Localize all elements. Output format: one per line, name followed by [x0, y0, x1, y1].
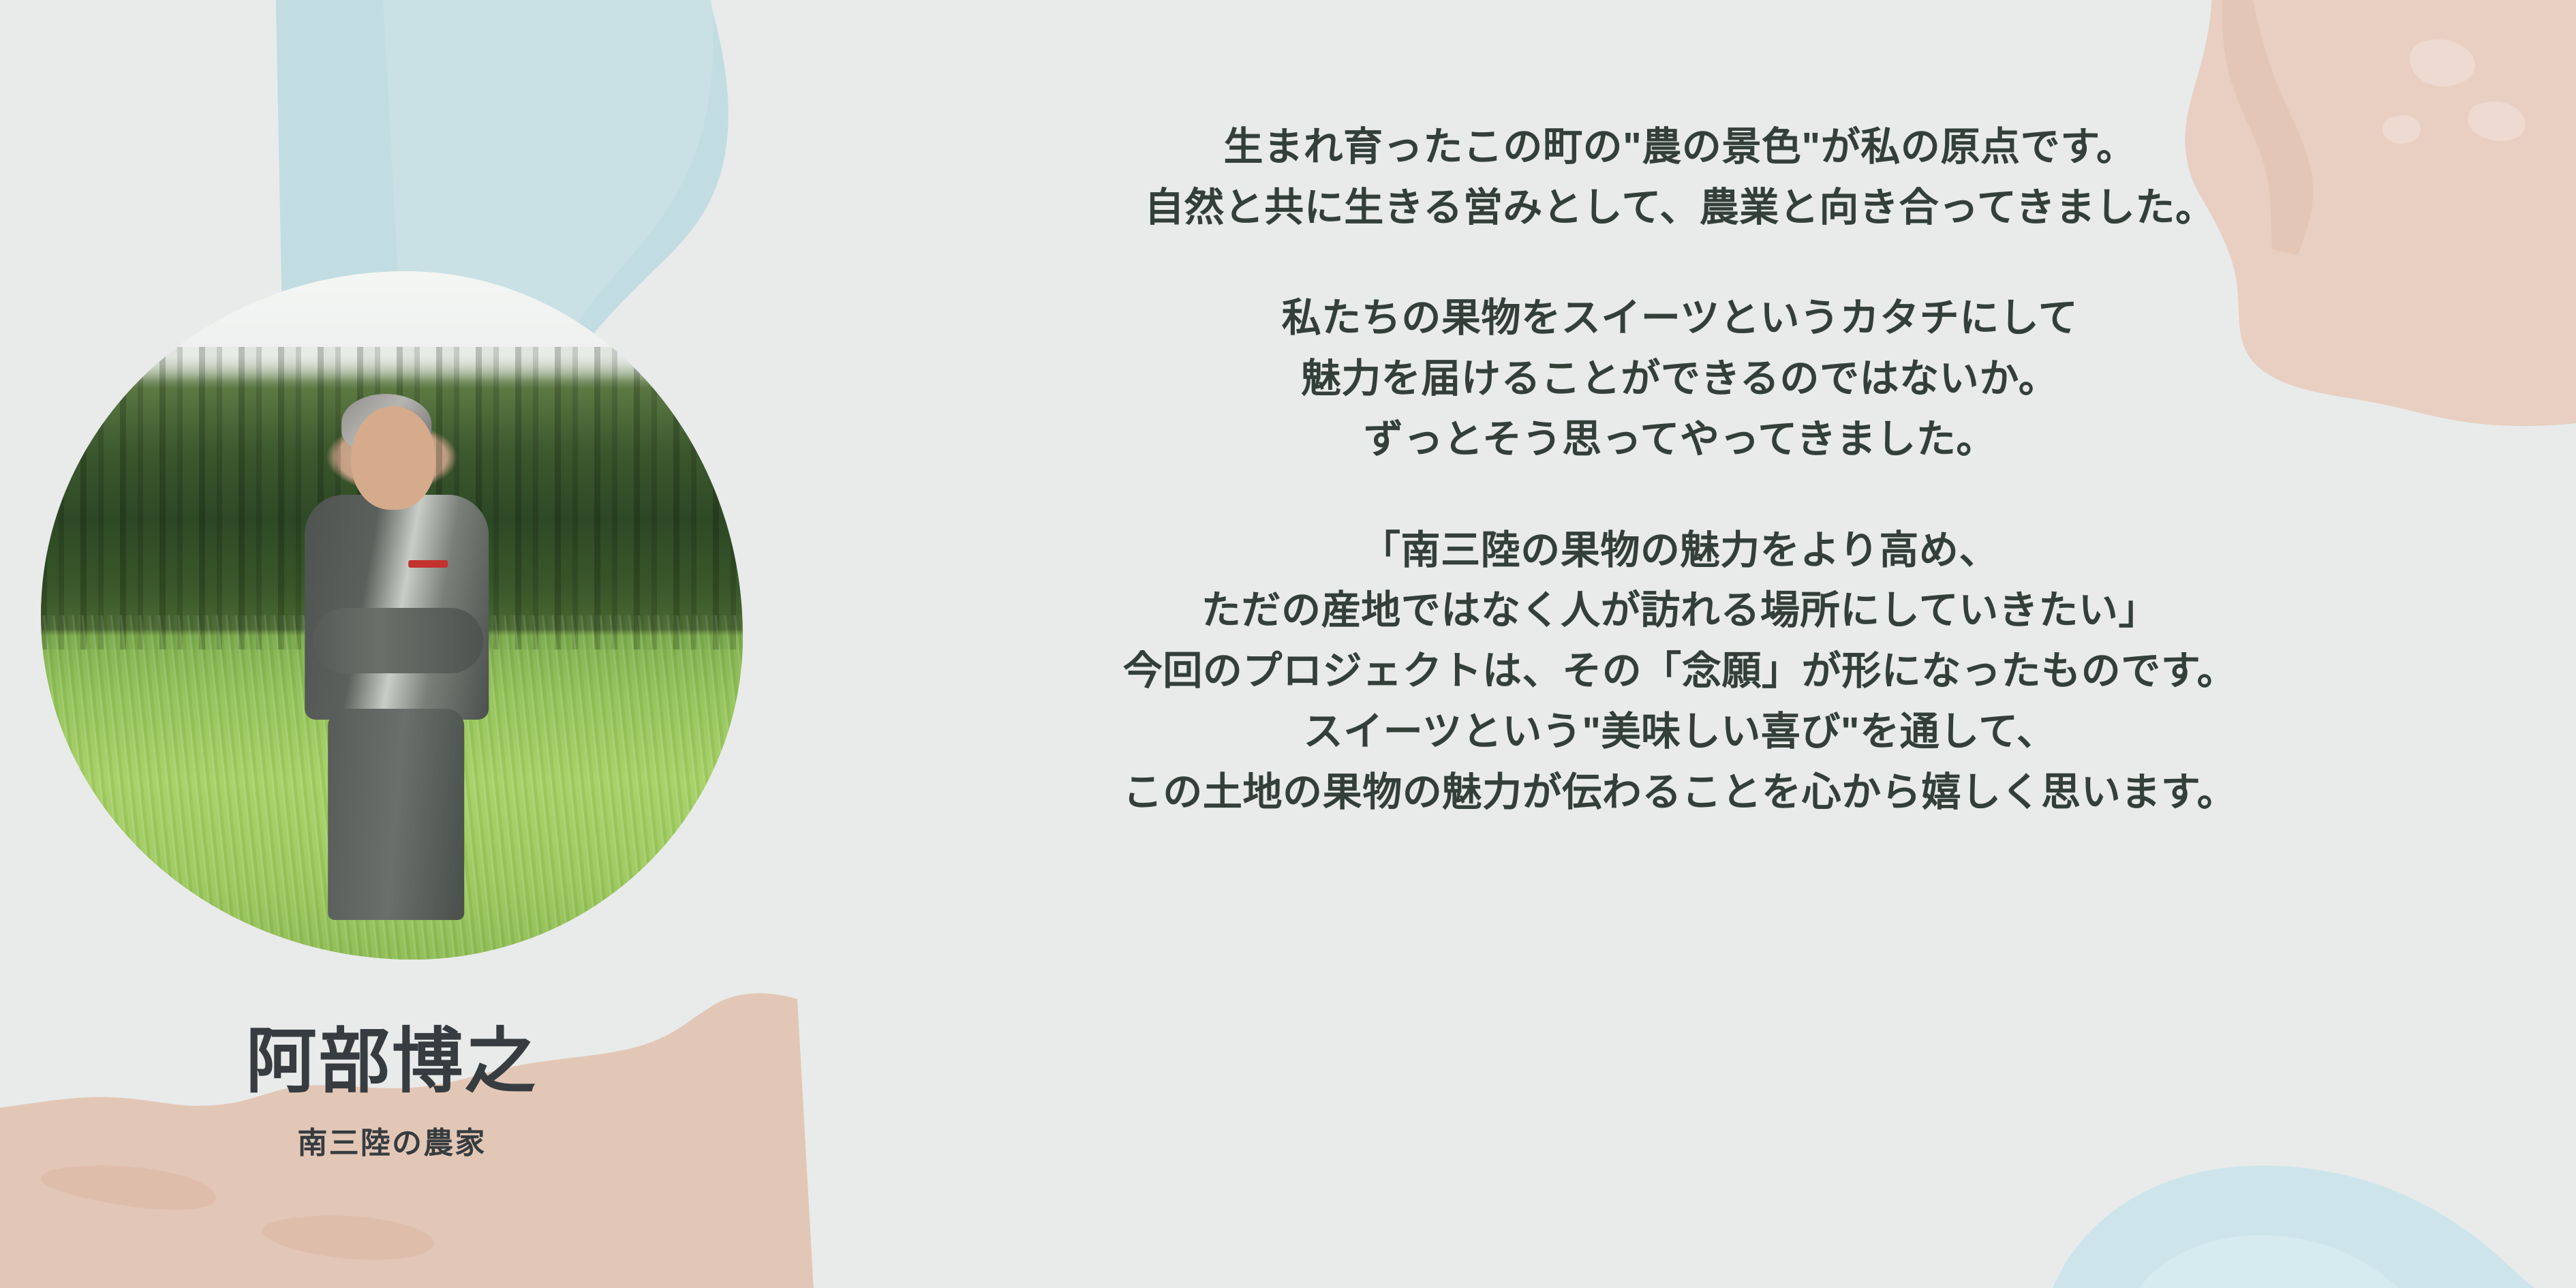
- quote-line: 自然と共に生きる営みとして、農業と向き合ってきました。: [828, 178, 2532, 239]
- quote-line: 魅力を届けることができるのではないか。: [828, 349, 2532, 410]
- quote-paragraph: 私たちの果物をスイーツというカタチにして魅力を届けることができるのではないか。ず…: [828, 288, 2532, 470]
- quote-paragraph: 生まれ育ったこの町の"農の景色"が私の原点です。自然と共に生きる営みとして、農業…: [828, 117, 2532, 238]
- quote-line: ただの産地ではなく人が訪れる場所にしていきたい」: [828, 581, 2532, 641]
- figure-crossed-arms: [313, 608, 483, 673]
- quote-line: 生まれ育ったこの町の"農の景色"が私の原点です。: [828, 117, 2532, 178]
- farmer-portrait-photo: [41, 271, 743, 960]
- figure-torso: [305, 495, 489, 720]
- quote-line: スイーツという"美味しい喜び"を通して、: [828, 702, 2532, 763]
- profile-name-block: 阿部博之 南三陸の農家: [246, 1025, 538, 1162]
- figure-chest-badge: [408, 560, 448, 568]
- person-role: 南三陸の農家: [246, 1118, 538, 1162]
- quote-line: 「南三陸の果物の魅力をより高め、: [828, 521, 2532, 581]
- quote-line: ずっとそう思ってやってきました。: [828, 410, 2532, 470]
- quote-line: 私たちの果物をスイーツというカタチにして: [828, 288, 2532, 349]
- figure-legs: [328, 709, 464, 920]
- person-name: 阿部博之: [246, 1025, 538, 1099]
- quote-paragraph: 「南三陸の果物の魅力をより高め、ただの産地ではなく人が訪れる場所にしていきたい」…: [828, 521, 2532, 823]
- testimonial-banner: 阿部博之 南三陸の農家 生まれ育ったこの町の"農の景色"が私の原点です。自然と共…: [0, 0, 2576, 1288]
- profile-column: 阿部博之 南三陸の農家: [0, 0, 784, 1288]
- figure-head: [351, 406, 435, 510]
- farmer-figure: [288, 388, 513, 920]
- quote-line: この土地の果物の魅力が伝わることを心から嬉しく思います。: [828, 763, 2532, 823]
- quote-body: 生まれ育ったこの町の"農の景色"が私の原点です。自然と共に生きる営みとして、農業…: [828, 117, 2532, 823]
- quote-line: 今回のプロジェクトは、その「念願」が形になったものです。: [828, 641, 2532, 702]
- quote-column: 生まれ育ったこの町の"農の景色"が私の原点です。自然と共に生きる営みとして、農業…: [784, 0, 2576, 1288]
